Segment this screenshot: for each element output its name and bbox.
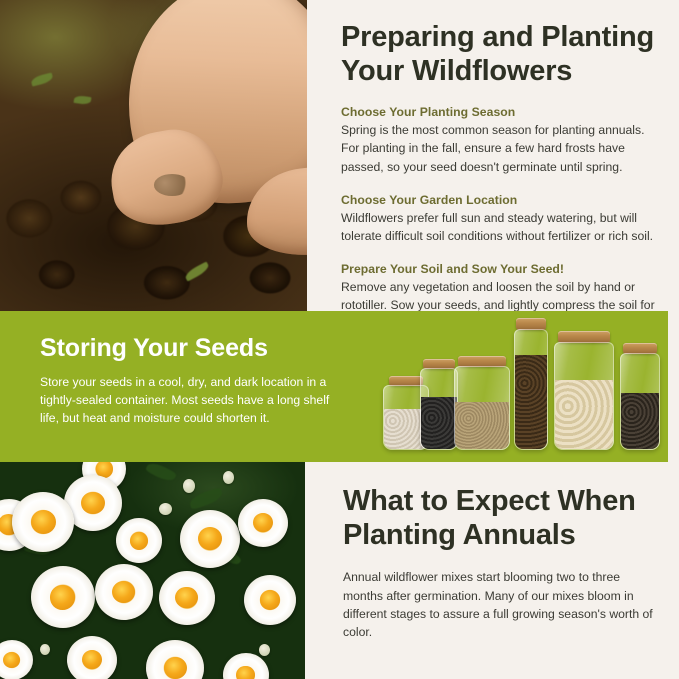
daisy-flower [159, 571, 215, 625]
body-planting-season: Spring is the most common season for pla… [341, 121, 665, 175]
jar-glass [420, 368, 458, 450]
infographic-page: Preparing and Planting Your Wildflowers … [0, 0, 679, 679]
expectations-heading: What to Expect When Planting Annuals [343, 484, 653, 552]
jar-pale-seeds [554, 342, 614, 450]
daisy-flower [244, 575, 296, 625]
jar-contents [621, 393, 659, 449]
expectations-body: Annual wildflower mixes start blooming t… [343, 568, 653, 641]
jar-glass [620, 353, 660, 450]
jar-contents [421, 397, 457, 449]
subheading-prepare-soil: Prepare Your Soil and Sow Your Seed! [341, 262, 665, 276]
jar-glass [454, 366, 510, 450]
jar-tan-seeds [454, 366, 510, 450]
seed-jars-photo [375, 311, 668, 462]
jar-glass [554, 342, 614, 450]
subheading-garden-location: Choose Your Garden Location [341, 193, 665, 207]
body-garden-location: Wildflowers prefer full sun and steady w… [341, 209, 665, 245]
jar-glass [514, 329, 548, 450]
daisy-flower [67, 636, 117, 679]
jar-contents [555, 380, 613, 449]
jar-black-seeds [420, 368, 458, 450]
jar-contents [515, 355, 547, 449]
hands-sowing-seeds-photo [0, 0, 307, 311]
right-margin-filler [668, 311, 679, 462]
daisy-flower [180, 510, 240, 568]
subheading-planting-season: Choose Your Planting Season [341, 105, 665, 119]
daisy-flower [95, 564, 153, 620]
seeds-in-palm [154, 174, 191, 196]
flower-bud [40, 644, 50, 655]
jar-brown-seeds [514, 329, 548, 450]
storing-text-block: Storing Your Seeds Store your seeds in a… [40, 335, 340, 427]
jar-contents [455, 402, 509, 449]
storing-body: Store your seeds in a cool, dry, and dar… [40, 373, 340, 427]
section-storing-seeds: Storing Your Seeds Store your seeds in a… [0, 311, 668, 462]
jar-dark-seeds [620, 353, 660, 450]
daisy-flower [238, 499, 288, 547]
daisy-flower [31, 566, 95, 628]
expectations-text-panel: What to Expect When Planting Annuals Ann… [305, 462, 679, 679]
daisy-flower [116, 518, 162, 563]
flower-bud [159, 503, 172, 515]
storing-heading: Storing Your Seeds [40, 335, 340, 363]
white-daisies-photo [0, 462, 305, 679]
preparing-text-panel: Preparing and Planting Your Wildflowers … [307, 0, 679, 311]
section-preparing: Preparing and Planting Your Wildflowers … [0, 0, 679, 311]
flower-bud [223, 471, 234, 484]
page-title: Preparing and Planting Your Wildflowers [341, 20, 665, 88]
